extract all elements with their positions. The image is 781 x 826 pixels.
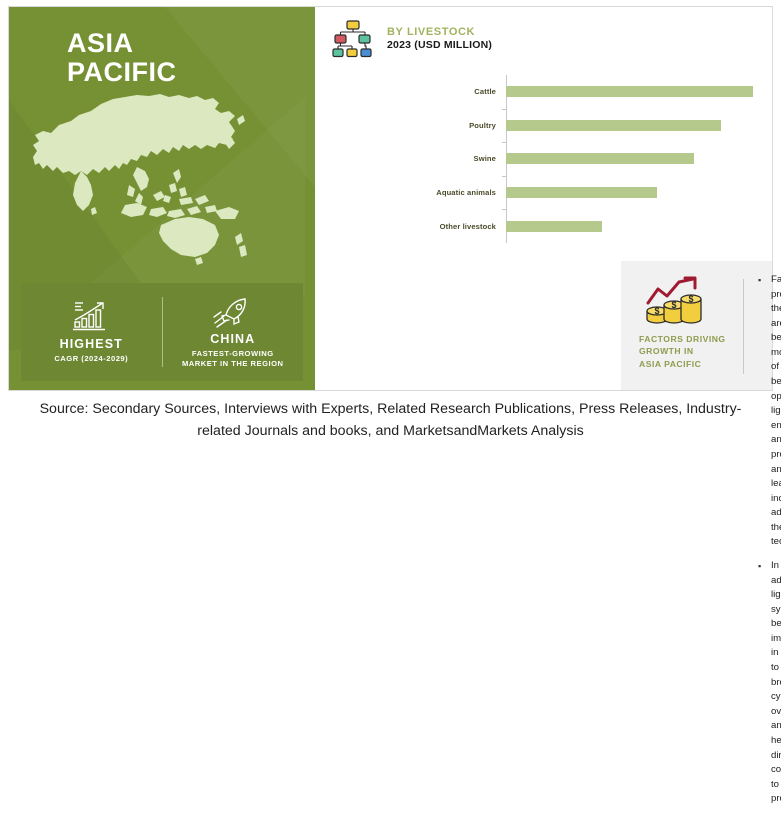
money-growth-icon: $ $ $	[639, 275, 737, 327]
region-stats: HIGHEST CAGR (2024-2029)	[21, 283, 303, 381]
bullet-marker-icon: ▪	[758, 559, 771, 807]
chart-bar-rows: CattlePoultrySwineAquatic animalsOther l…	[331, 75, 761, 243]
stat-subtitle-line2: MARKET IN THE REGION	[182, 359, 284, 369]
svg-text:$: $	[671, 300, 676, 310]
region-title: ASIA PACIFIC	[67, 29, 177, 87]
chart-bar	[506, 187, 657, 198]
chart-bar	[506, 153, 694, 164]
factors-panel: $ $ $ FACTORS DRIVING GROWTH IN ASIA PAC…	[621, 261, 772, 390]
svg-text:$: $	[654, 306, 659, 316]
chart-category-label: Cattle	[331, 87, 501, 96]
chart-panel: BY LIVESTOCK 2023 (USD MILLION) CattlePo…	[315, 7, 772, 390]
factors-bullet-list: ▪Farmers and producers in the region are…	[744, 261, 781, 826]
chart-bar-row: Cattle	[331, 75, 761, 109]
chart-category-label: Aquatic animals	[331, 188, 501, 197]
chart-bar	[506, 120, 721, 131]
chart-bar	[506, 221, 602, 232]
bar-chart-growth-icon	[71, 300, 111, 334]
stat-title: CHINA	[210, 333, 255, 347]
chart-header-row: BY LIVESTOCK 2023 (USD MILLION)	[331, 19, 492, 59]
chart-bar-row: Other livestock	[331, 209, 761, 243]
stat-subtitle: FASTEST-GROWING MARKET IN THE REGION	[182, 349, 284, 370]
chart-bar-row: Swine	[331, 142, 761, 176]
chart-title: BY LIVESTOCK	[387, 26, 492, 40]
source-note: Source: Secondary Sources, Interviews wi…	[0, 398, 781, 442]
stat-subtitle: CAGR (2024-2029)	[54, 354, 128, 364]
stat-fastest-growing-country: CHINA FASTEST-GROWING MARKET IN THE REGI…	[163, 295, 304, 369]
bar-chart: CattlePoultrySwineAquatic animalsOther l…	[331, 75, 761, 243]
stat-title: HIGHEST	[60, 338, 123, 352]
stat-subtitle-line1: FASTEST-GROWING	[182, 349, 284, 359]
chart-axis-tick	[502, 142, 507, 143]
region-title-line2: PACIFIC	[67, 58, 177, 87]
stat-highest-cagr: HIGHEST CAGR (2024-2029)	[21, 300, 162, 364]
factors-label-line3: ASIA PACIFIC	[639, 358, 737, 370]
chart-axis-tick	[502, 109, 507, 110]
chart-bar-row: Poultry	[331, 109, 761, 143]
chart-category-label: Swine	[331, 154, 501, 163]
chart-bar	[506, 86, 753, 97]
chart-subtitle: 2023 (USD MILLION)	[387, 39, 492, 52]
hierarchy-icon	[331, 19, 375, 59]
region-panel: ASIA PACIFIC	[9, 7, 315, 390]
rocket-icon	[212, 295, 254, 329]
region-title-line1: ASIA	[67, 29, 177, 58]
infographic-card: ASIA PACIFIC	[8, 6, 773, 391]
chart-axis-tick	[502, 176, 507, 177]
chart-area: BY LIVESTOCK 2023 (USD MILLION) CattlePo…	[315, 7, 772, 261]
factors-label-line1: FACTORS DRIVING	[639, 333, 737, 345]
chart-title-block: BY LIVESTOCK 2023 (USD MILLION)	[387, 26, 492, 53]
chart-category-label: Poultry	[331, 121, 501, 130]
factors-label-block: $ $ $ FACTORS DRIVING GROWTH IN ASIA PAC…	[621, 261, 743, 370]
svg-text:$: $	[688, 294, 693, 304]
factors-bullet-text: In China, advanced lighting systems are …	[771, 559, 781, 807]
chart-category-label: Other livestock	[331, 222, 501, 231]
factors-bullet: ▪In China, advanced lighting systems are…	[758, 559, 781, 807]
chart-bar-row: Aquatic animals	[331, 176, 761, 210]
chart-axis-tick	[502, 209, 507, 210]
factors-label: FACTORS DRIVING GROWTH IN ASIA PACIFIC	[639, 333, 737, 370]
asia-pacific-map-icon	[29, 85, 299, 271]
factors-label-line2: GROWTH IN	[639, 345, 737, 357]
